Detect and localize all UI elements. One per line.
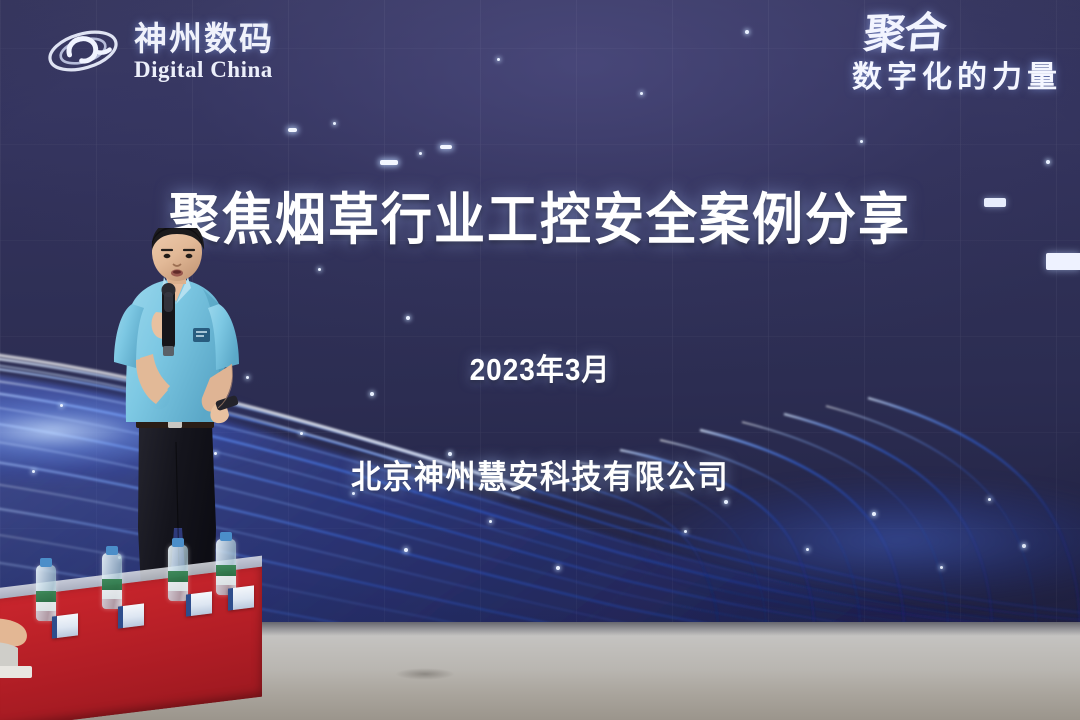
logo-english-name: Digital China	[134, 58, 274, 81]
event-logo: 聚合 数字化的力量	[852, 16, 1062, 96]
bottle-cap	[40, 558, 52, 567]
handheld-microphone	[162, 283, 176, 356]
bottle-cap	[172, 538, 184, 547]
screen-edge-highlight-dash	[984, 198, 1006, 207]
bottle-label	[216, 565, 236, 585]
water-bottle	[168, 545, 188, 601]
water-bottle	[102, 553, 122, 609]
event-logo-tagline: 数字化的力量	[852, 52, 1062, 96]
bottle-cap	[220, 532, 232, 541]
bottle-label	[102, 579, 122, 599]
bottle-label	[168, 571, 188, 591]
name-card	[228, 585, 254, 610]
digital-china-logo: 神州数码 Digital China	[46, 18, 274, 84]
screen-edge-highlight-bar	[1046, 253, 1080, 270]
swirl-spiral-logo-icon	[46, 18, 120, 84]
logo-chinese-name: 神州数码	[134, 22, 274, 55]
event-logo-calligraphy: 聚合	[850, 14, 946, 57]
seated-attendee	[0, 600, 68, 720]
name-card	[118, 603, 144, 628]
stage-floor-scuff	[395, 668, 455, 680]
water-bottle	[216, 539, 236, 595]
shirt-chest-badge	[193, 328, 210, 342]
bottle-cap	[106, 546, 118, 555]
conference-stage-photo: 神州数码 Digital China 聚合 数字化的力量 聚焦烟草行业工控安全案…	[0, 0, 1080, 720]
name-card	[186, 591, 212, 616]
